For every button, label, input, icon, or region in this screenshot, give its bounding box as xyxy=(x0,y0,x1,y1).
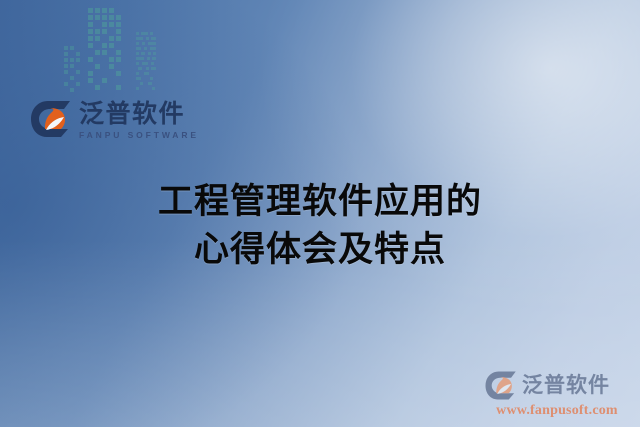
headline-line-2: 心得体会及特点 xyxy=(0,226,640,274)
fanpu-watermark-mark-icon xyxy=(484,370,518,401)
watermark-url: www.fanpusoft.com xyxy=(484,403,630,419)
headline: 工程管理软件应用的 心得体会及特点 xyxy=(0,178,640,274)
brand-logo: 泛普软件 FANPU SOFTWARE xyxy=(30,99,199,140)
watermark-name-cn: 泛普软件 xyxy=(522,375,610,396)
brand-name-en: FANPU SOFTWARE xyxy=(79,131,199,140)
watermark: 泛普软件 www.fanpusoft.com xyxy=(484,370,630,419)
brand-wordmark: 泛普软件 FANPU SOFTWARE xyxy=(79,99,199,140)
promo-banner: 泛普软件 FANPU SOFTWARE 工程管理软件应用的 心得体会及特点 泛普… xyxy=(0,0,640,427)
brand-name-cn: 泛普软件 xyxy=(79,101,199,126)
fanpu-logo-mark-icon xyxy=(30,99,72,139)
pixel-mosaic-pattern-icon xyxy=(62,0,182,98)
watermark-logo-row: 泛普软件 xyxy=(484,370,630,401)
headline-line-1: 工程管理软件应用的 xyxy=(0,178,640,226)
